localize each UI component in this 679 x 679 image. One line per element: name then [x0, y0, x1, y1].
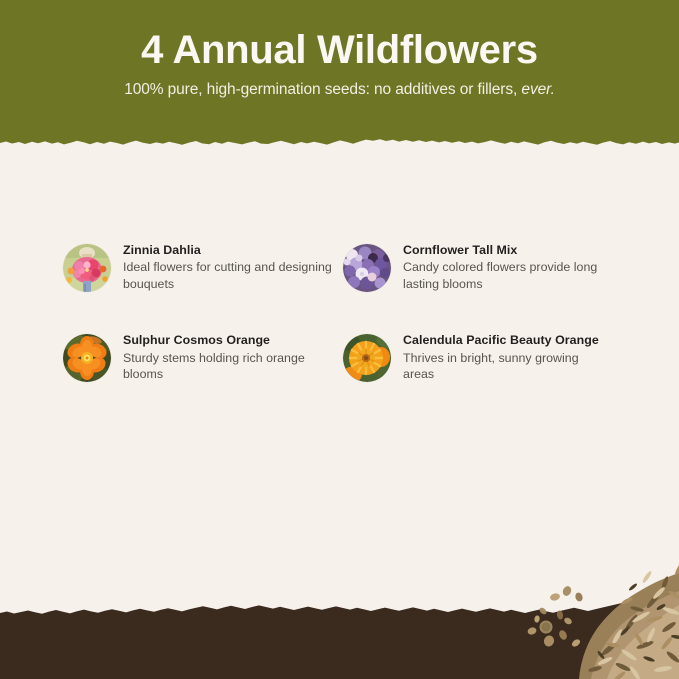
items-row: Zinnia Dahlia Ideal flowers for cutting … [63, 242, 623, 292]
subtitle-emphasis-text: ever. [521, 81, 554, 98]
header-content: 4 Annual Wildflowers 100% pure, high-ger… [0, 0, 679, 140]
items-section: Zinnia Dahlia Ideal flowers for cutting … [0, 156, 679, 556]
zinnia-dahlia-photo-icon [63, 244, 111, 292]
item-description: Ideal flowers for cutting and designing … [123, 259, 335, 292]
item-text-block: Zinnia Dahlia Ideal flowers for cutting … [123, 242, 335, 292]
item-title: Sulphur Cosmos Orange [123, 332, 335, 348]
item-text-block: Calendula Pacific Beauty Orange Thrives … [403, 332, 608, 382]
item-title: Zinnia Dahlia [123, 242, 335, 258]
list-item-zinnia-dahlia[interactable]: Zinnia Dahlia Ideal flowers for cutting … [63, 242, 343, 292]
sulphur-cosmos-orange-thumbnail [63, 334, 111, 382]
torn-edge-green [0, 131, 679, 157]
infographic-page: 4 Annual Wildflowers 100% pure, high-ger… [0, 0, 679, 679]
page-subtitle: 100% pure, high-germination seeds: no ad… [124, 81, 555, 99]
sulphur-cosmos-orange-photo-icon [63, 334, 111, 382]
subtitle-main-text: 100% pure, high-germination seeds: no ad… [124, 81, 521, 98]
list-item-calendula-pacific-beauty-orange[interactable]: Calendula Pacific Beauty Orange Thrives … [343, 332, 623, 382]
list-item-cornflower-tall-mix[interactable]: Cornflower Tall Mix Candy colored flower… [343, 242, 623, 292]
item-title: Calendula Pacific Beauty Orange [403, 332, 608, 348]
item-description: Sturdy stems holding rich orange blooms [123, 350, 335, 383]
item-description: Thrives in bright, sunny growing areas [403, 350, 608, 383]
header-banner: 4 Annual Wildflowers 100% pure, high-ger… [0, 0, 679, 156]
item-text-block: Sulphur Cosmos Orange Sturdy stems holdi… [123, 332, 335, 382]
item-text-block: Cornflower Tall Mix Candy colored flower… [403, 242, 615, 292]
zinnia-dahlia-thumbnail [63, 244, 111, 292]
items-row: Sulphur Cosmos Orange Sturdy stems holdi… [63, 332, 623, 382]
item-description: Candy colored flowers provide long lasti… [403, 259, 615, 292]
seed-pile-icon [519, 549, 679, 679]
items-grid: Zinnia Dahlia Ideal flowers for cutting … [63, 242, 623, 383]
calendula-pacific-beauty-orange-thumbnail [343, 334, 391, 382]
list-item-sulphur-cosmos-orange[interactable]: Sulphur Cosmos Orange Sturdy stems holdi… [63, 332, 343, 382]
cornflower-tall-mix-photo-icon [343, 244, 391, 292]
calendula-pacific-beauty-orange-photo-icon [343, 334, 391, 382]
cornflower-tall-mix-thumbnail [343, 244, 391, 292]
item-title: Cornflower Tall Mix [403, 242, 615, 258]
page-title: 4 Annual Wildflowers [141, 28, 538, 72]
footer-soil-band [0, 569, 679, 679]
